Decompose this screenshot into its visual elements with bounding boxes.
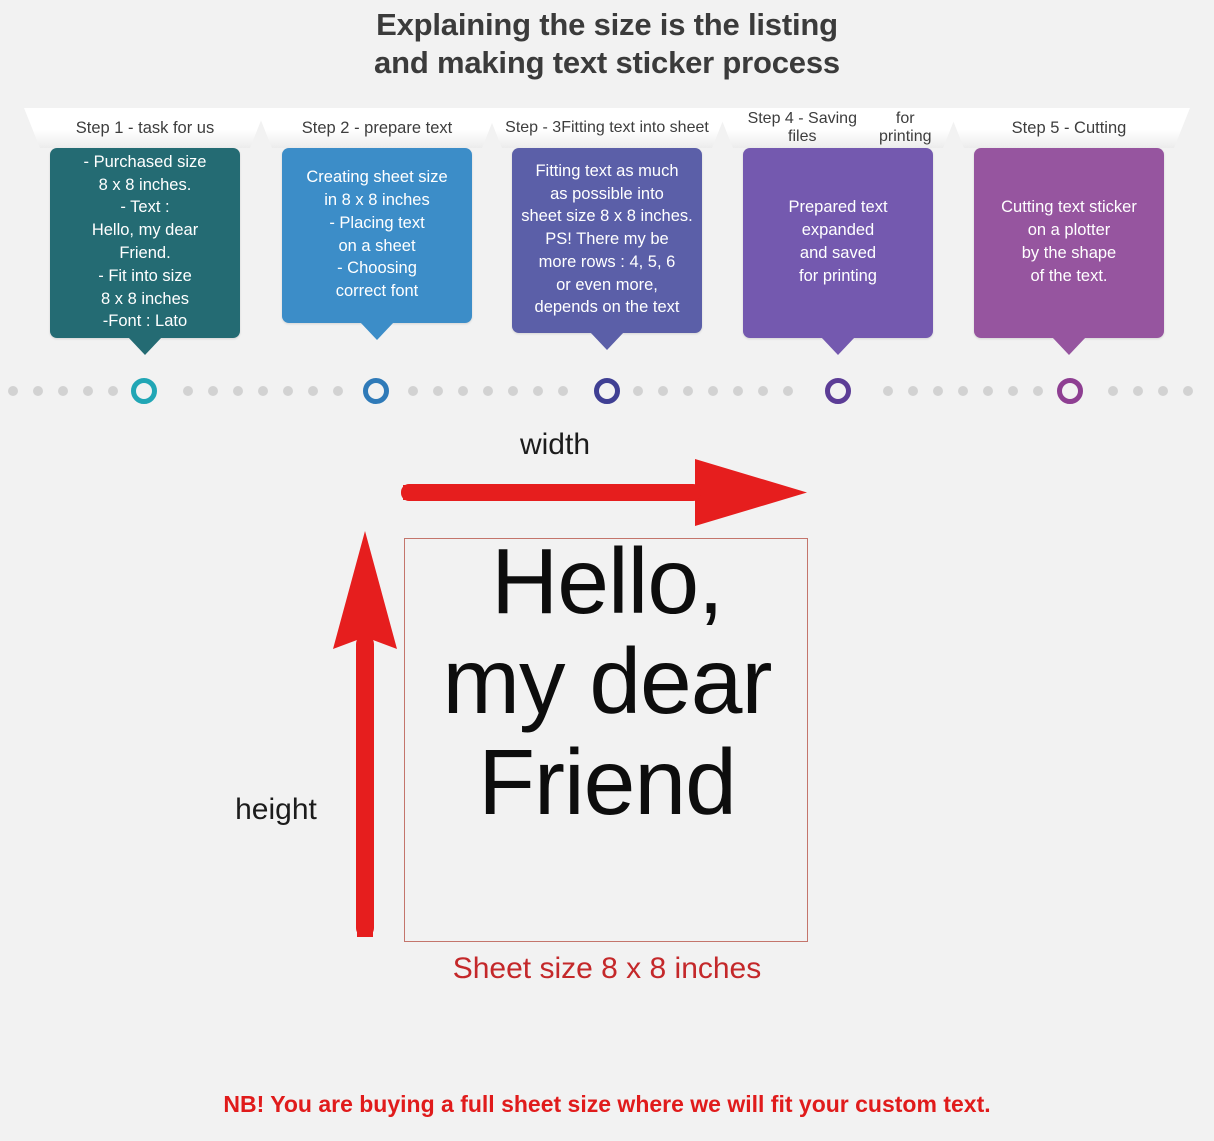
sheet-text-line: Hello, [401,531,813,631]
sheet-preview-box: Hello, my dear Friend [404,538,808,942]
sheet-text: Hello, my dear Friend [401,531,813,832]
sheet-text-line: Friend [401,732,813,832]
sheet-text-line: my dear [401,631,813,731]
width-arrow-icon [395,455,815,530]
sheet-diagram: width height Hello, my dear Friend Sheet… [0,0,1214,1141]
infographic-page: Explaining the size is the listing and m… [0,0,1214,1141]
height-arrow-icon [325,525,405,945]
sheet-size-caption: Sheet size 8 x 8 inches [307,952,907,986]
footer-note: NB! You are buying a full sheet size whe… [0,1091,1214,1118]
